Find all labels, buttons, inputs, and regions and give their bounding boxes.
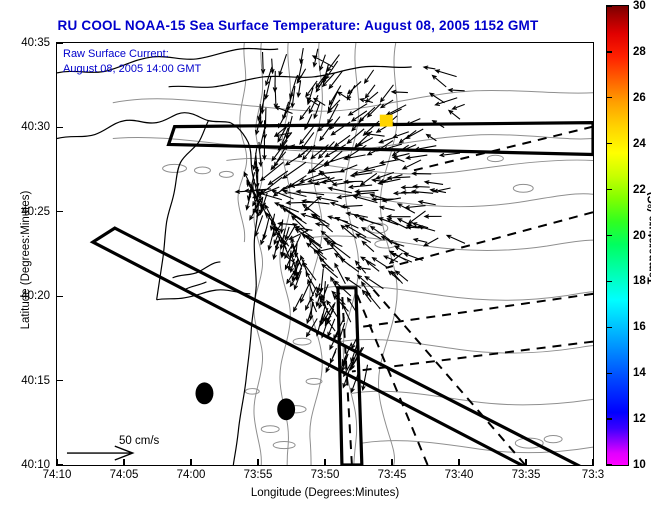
y-tick-mark — [57, 380, 63, 381]
colorbar-tick-mark — [607, 281, 612, 282]
buoy-marker — [380, 115, 393, 127]
x-tick-mark — [123, 459, 124, 465]
survey-boxes — [93, 123, 593, 465]
y-axis-title: Latitude (Degrees:Minutes) — [20, 180, 32, 340]
map-canvas — [57, 43, 593, 465]
y-tick-label: 40:10 — [0, 459, 50, 471]
colorbar-tick-mark — [607, 235, 612, 236]
annotation-line-2: August 08, 2005 14:00 GMT — [63, 63, 201, 75]
colorbar-tick-label: 16 — [633, 321, 646, 333]
sst-contours — [113, 43, 593, 465]
annotation-line-1: Raw Surface Current: — [63, 48, 169, 60]
y-tick-label: 40:15 — [0, 375, 50, 387]
colorbar-tick-label: 14 — [633, 367, 646, 379]
colorbar-tick-label: 24 — [633, 138, 646, 150]
x-tick-mark — [458, 459, 459, 465]
colorbar-tick-label: 22 — [633, 184, 646, 196]
y-tick-mark — [57, 127, 63, 128]
colorbar-tick-label: 28 — [633, 46, 646, 58]
y-tick-mark — [57, 464, 63, 465]
colorbar-tick-mark — [607, 51, 612, 52]
x-axis-title: Longitude (Degrees:Minutes) — [56, 487, 594, 499]
colorbar-tick-label: 18 — [633, 275, 646, 287]
scale-legend-arrow — [67, 446, 133, 460]
colorbar-tick-mark — [607, 189, 612, 190]
colorbar-tick-label: 20 — [633, 230, 646, 242]
colorbar-tick-mark — [607, 5, 612, 6]
colorbar-tick-label: 12 — [633, 413, 646, 425]
current-annotation: Raw Surface Current:August 08, 2005 14:0… — [63, 47, 201, 77]
x-tick-label: 74:00 — [177, 469, 206, 481]
x-tick-mark — [592, 459, 593, 465]
colorbar-title: Temperature (°C) — [647, 158, 651, 318]
y-tick-label: 40:35 — [0, 37, 50, 49]
y-tick-mark — [57, 42, 63, 43]
x-tick-label: 73:45 — [378, 469, 407, 481]
x-tick-mark — [391, 459, 392, 465]
colorbar-tick-mark — [607, 97, 612, 98]
colorbar-tick-label: 30 — [633, 0, 646, 12]
page-title: RU COOL NOAA-15 Sea Surface Temperature:… — [0, 18, 596, 33]
station-marker-a — [195, 382, 213, 404]
station-marker-b — [277, 398, 295, 420]
colorbar-tick-label: 10 — [633, 459, 646, 471]
map-plot-area: Raw Surface Current:August 08, 2005 14:0… — [56, 42, 594, 466]
y-tick-mark — [57, 296, 63, 297]
x-tick-label: 74:05 — [110, 469, 139, 481]
colorbar-tick-mark — [607, 464, 612, 465]
x-tick-mark — [257, 459, 258, 465]
x-tick-mark — [324, 459, 325, 465]
x-tick-label: 73:40 — [445, 469, 474, 481]
x-tick-label: 73:35 — [512, 469, 541, 481]
colorbar-tick-mark — [607, 418, 612, 419]
x-tick-label: 73:50 — [311, 469, 340, 481]
x-tick-label: 73:55 — [244, 469, 273, 481]
colorbar-tick-mark — [607, 327, 612, 328]
x-tick-mark — [190, 459, 191, 465]
x-tick-mark — [525, 459, 526, 465]
x-tick-label: 73:3 — [582, 469, 604, 481]
colorbar-tick-label: 26 — [633, 92, 646, 104]
figure: RU COOL NOAA-15 Sea Surface Temperature:… — [0, 0, 651, 518]
scale-legend-label: 50 cm/s — [119, 435, 159, 447]
colorbar-tick-mark — [607, 143, 612, 144]
y-tick-label: 40:30 — [0, 121, 50, 133]
colorbar-tick-mark — [607, 373, 612, 374]
y-tick-mark — [57, 211, 63, 212]
